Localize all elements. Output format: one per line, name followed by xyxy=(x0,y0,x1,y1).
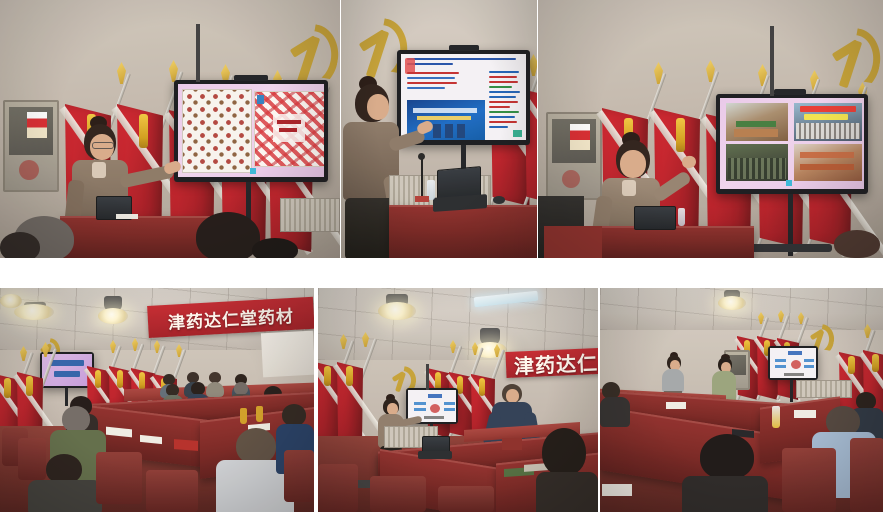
photo-collage: 津药达仁堂药材 xyxy=(0,0,883,512)
chair xyxy=(438,486,494,512)
audience-head xyxy=(252,238,298,258)
podium xyxy=(594,226,754,258)
chair xyxy=(146,470,198,512)
podium xyxy=(60,216,210,258)
chair xyxy=(96,452,142,504)
collage-panel-6[interactable] xyxy=(600,288,883,512)
collage-panel-5[interactable]: 津药达仁 xyxy=(318,288,598,512)
photo-tile-crowd-headline xyxy=(794,103,862,141)
slide-photo-grid xyxy=(720,98,864,189)
banner-text: 津药达仁 xyxy=(513,347,598,380)
chair xyxy=(850,438,883,512)
cabinet-sign xyxy=(27,112,47,138)
attendee xyxy=(536,428,598,512)
slide-title xyxy=(407,58,521,67)
collage-panel-2[interactable] xyxy=(341,0,537,258)
conference-table xyxy=(389,205,537,258)
ceiling-lamp xyxy=(378,302,416,320)
collage-panel-3[interactable] xyxy=(538,0,883,258)
collage-panel-1[interactable] xyxy=(0,0,340,258)
slide-diagram xyxy=(770,348,816,378)
ceiling-lamp xyxy=(14,304,54,320)
slide-herbal-chart xyxy=(178,84,324,177)
presentation-screen xyxy=(174,80,328,182)
collage-panel-4[interactable]: 津药达仁堂药材 xyxy=(0,288,314,512)
chair xyxy=(18,438,46,480)
ceiling-lamp xyxy=(0,294,22,308)
chair xyxy=(782,448,836,512)
chair xyxy=(318,464,358,512)
flag-group xyxy=(318,326,374,444)
fire-equipment-cabinet xyxy=(3,100,59,192)
chair xyxy=(370,476,426,512)
slide-headline xyxy=(800,106,856,112)
water-bottle xyxy=(772,406,780,428)
wall-banner: 津药达仁 xyxy=(505,348,598,378)
audience-head xyxy=(834,230,880,258)
banner-text: 津药达仁堂药材 xyxy=(167,301,294,333)
photo-tile-bbq xyxy=(726,103,788,141)
audience-head xyxy=(196,212,260,258)
audience-head xyxy=(0,232,40,258)
cabinet-sign xyxy=(570,124,590,150)
chair xyxy=(284,450,314,502)
ceiling-lamp xyxy=(98,308,128,324)
attendee xyxy=(600,382,630,426)
photo-tile-crowd xyxy=(726,144,788,181)
presentation-screen xyxy=(716,94,868,194)
attendee xyxy=(682,434,768,512)
photo-tile-grill xyxy=(794,144,862,181)
presentation-screen xyxy=(768,346,818,380)
